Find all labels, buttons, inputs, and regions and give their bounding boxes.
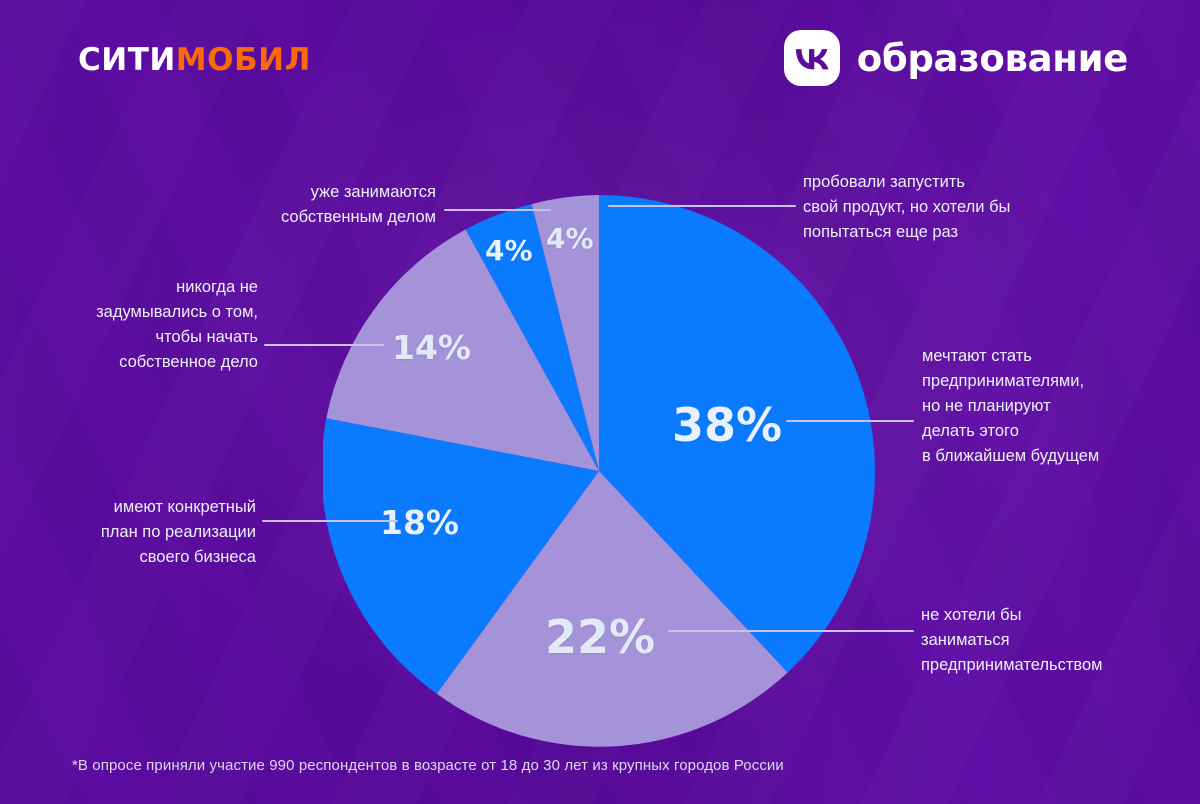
pie-value-22: 22% bbox=[545, 610, 655, 664]
leader-line-not-want bbox=[668, 630, 914, 632]
leader-line-never-thought bbox=[264, 344, 384, 346]
pie-value-38: 38% bbox=[672, 398, 782, 452]
callout-not-want: не хотели бы заниматься предпринимательс… bbox=[921, 603, 1153, 678]
callout-try-again: пробовали запустить свой продукт, но хот… bbox=[803, 170, 1055, 245]
pie-value-4-blue: 4% bbox=[485, 234, 533, 267]
callout-already-doing: уже занимаются собственным делом bbox=[256, 180, 436, 230]
callout-never-thought: никогда не задумывались о том, чтобы нач… bbox=[46, 275, 258, 375]
pie-chart: 38% 22% 18% 14% 4% 4% пробовали запустит… bbox=[0, 0, 1200, 804]
leader-line-dream bbox=[786, 420, 914, 422]
leader-line-try-again bbox=[608, 205, 796, 207]
callout-has-plan: имеют конкретный план по реализации свое… bbox=[48, 495, 256, 570]
footnote: *В опросе приняли участие 990 респондент… bbox=[72, 757, 784, 774]
callout-dream: мечтают стать предпринимателями, но не п… bbox=[922, 344, 1150, 469]
pie-chart-svg bbox=[323, 195, 875, 747]
leader-line-has-plan bbox=[262, 520, 398, 522]
pie-value-4-purple: 4% bbox=[546, 222, 594, 255]
leader-line-already-doing bbox=[444, 209, 551, 211]
pie-value-14: 14% bbox=[392, 328, 471, 367]
pie-value-18: 18% bbox=[380, 503, 459, 542]
